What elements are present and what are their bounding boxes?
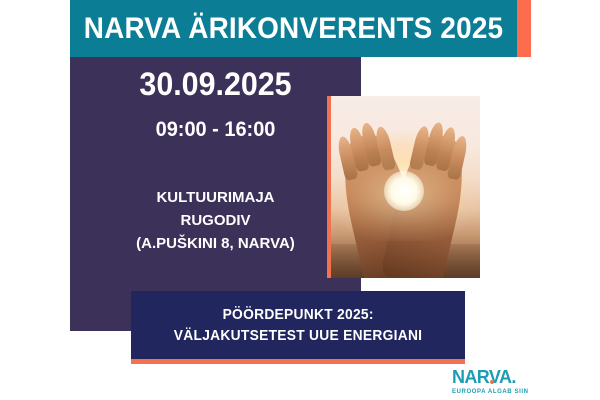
narva-tagline: EUROOPA ALGAB SIIN (452, 389, 552, 395)
hands-holding-sunlight-photo (327, 96, 480, 278)
narva-logo: NARVA. EUROOPA ALGAB SIIN (452, 368, 552, 395)
theme-banner: PÖÖRDEPUNKT 2025: VÄLJAKUTSETEST UUE ENE… (131, 291, 465, 359)
venue-line-3: (A.PUŠKINI 8, NARVA) (70, 232, 361, 255)
event-venue: KULTUURIMAJA RUGODIV (A.PUŠKINI 8, NARVA… (70, 186, 361, 255)
event-poster: NARVA ÄRIKONVERENTS 2025 30.09.2025 09:0… (0, 0, 600, 400)
sun-core (384, 171, 424, 211)
header-accent-bar (517, 0, 531, 57)
event-date: 30.09.2025 (77, 66, 353, 103)
event-time: 09:00 - 16:00 (77, 118, 353, 142)
venue-line-1: KULTUURIMAJA (70, 186, 361, 209)
venue-line-2: RUGODIV (70, 209, 361, 232)
photo-left-edge (327, 96, 331, 278)
narva-logo-dot (490, 380, 494, 384)
theme-line-1: PÖÖRDEPUNKT 2025: (222, 306, 373, 323)
narva-wordmark: NARVA. (452, 368, 516, 386)
poster-title: NARVA ÄRIKONVERENTS 2025 (86, 0, 502, 57)
theme-banner-strip (131, 359, 465, 364)
theme-line-2: VÄLJAKUTSETEST UUE ENERGIANI (174, 327, 423, 344)
